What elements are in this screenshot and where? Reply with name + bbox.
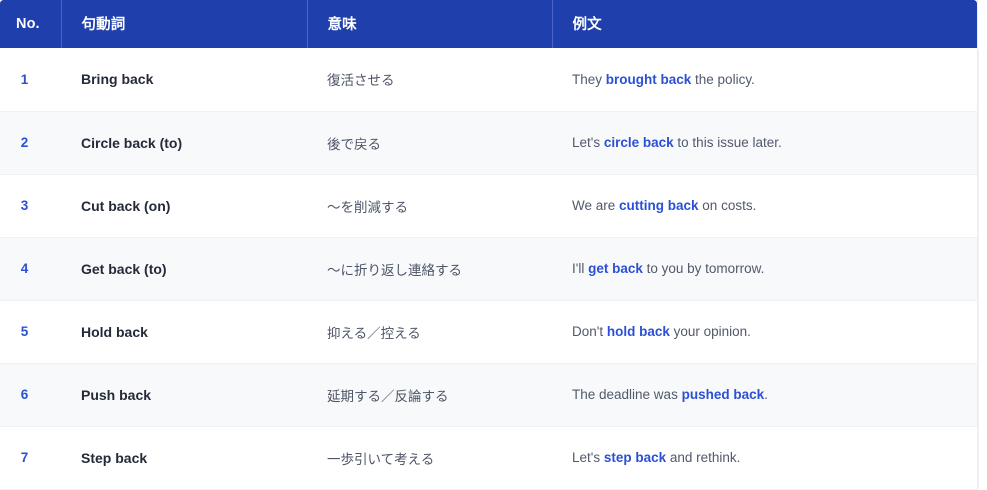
example-pre: Let's: [572, 450, 604, 465]
example-pre: Let's: [572, 135, 604, 150]
column-header-phrase[interactable]: 句動詞: [61, 0, 307, 48]
example-post: to this issue later.: [674, 135, 782, 150]
cell-example: Don't hold back your opinion.: [552, 300, 977, 363]
cell-no: 6: [0, 363, 61, 426]
cell-meaning: 一歩引いて考える: [307, 426, 552, 489]
table-row[interactable]: 2 Circle back (to) 後で戻る Let's circle bac…: [0, 111, 977, 174]
cell-phrase: Bring back: [61, 48, 307, 111]
cell-phrase: Get back (to): [61, 237, 307, 300]
table-row[interactable]: 3 Cut back (on) 〜を削減する We are cutting ba…: [0, 174, 977, 237]
example-highlight: pushed back: [682, 387, 765, 402]
cell-meaning: 〜に折り返し連絡する: [307, 237, 552, 300]
cell-example: The deadline was pushed back.: [552, 363, 977, 426]
phrasal-verb-table-container: No. 句動詞 意味 例文 1 Bring back 復活させる They br…: [0, 0, 987, 489]
cell-example: Let's step back and rethink.: [552, 426, 977, 489]
cell-meaning: 抑える／控える: [307, 300, 552, 363]
example-highlight: cutting back: [619, 198, 699, 213]
cell-no: 5: [0, 300, 61, 363]
table-row[interactable]: 7 Step back 一歩引いて考える Let's step back and…: [0, 426, 977, 489]
example-highlight: brought back: [606, 72, 692, 87]
example-pre: The deadline was: [572, 387, 682, 402]
cell-phrase: Hold back: [61, 300, 307, 363]
cell-no: 7: [0, 426, 61, 489]
cell-no: 2: [0, 111, 61, 174]
table-header: No. 句動詞 意味 例文: [0, 0, 977, 48]
cell-phrase: Push back: [61, 363, 307, 426]
cell-phrase: Cut back (on): [61, 174, 307, 237]
column-header-meaning[interactable]: 意味: [307, 0, 552, 48]
cell-meaning: 後で戻る: [307, 111, 552, 174]
table-header-row: No. 句動詞 意味 例文: [0, 0, 977, 48]
example-pre: Don't: [572, 324, 607, 339]
cell-no: 1: [0, 48, 61, 111]
cell-meaning: 〜を削減する: [307, 174, 552, 237]
table-row[interactable]: 1 Bring back 復活させる They brought back the…: [0, 48, 977, 111]
column-header-no[interactable]: No.: [0, 0, 61, 48]
example-highlight: hold back: [607, 324, 670, 339]
cell-example: Let's circle back to this issue later.: [552, 111, 977, 174]
cell-phrase: Step back: [61, 426, 307, 489]
table-right-edge-rule: [978, 50, 979, 489]
cell-example: We are cutting back on costs.: [552, 174, 977, 237]
table-row[interactable]: 5 Hold back 抑える／控える Don't hold back your…: [0, 300, 977, 363]
example-post: and rethink.: [666, 450, 740, 465]
cell-phrase: Circle back (to): [61, 111, 307, 174]
example-highlight: get back: [588, 261, 643, 276]
example-highlight: circle back: [604, 135, 674, 150]
example-pre: We are: [572, 198, 619, 213]
table-body: 1 Bring back 復活させる They brought back the…: [0, 48, 977, 489]
cell-meaning: 復活させる: [307, 48, 552, 111]
example-post: the policy.: [691, 72, 755, 87]
table-row[interactable]: 4 Get back (to) 〜に折り返し連絡する I'll get back…: [0, 237, 977, 300]
example-post: .: [764, 387, 768, 402]
example-post: on costs.: [699, 198, 757, 213]
example-pre: They: [572, 72, 606, 87]
table-row[interactable]: 6 Push back 延期する／反論する The deadline was p…: [0, 363, 977, 426]
cell-no: 3: [0, 174, 61, 237]
example-pre: I'll: [572, 261, 588, 276]
cell-example: I'll get back to you by tomorrow.: [552, 237, 977, 300]
cell-example: They brought back the policy.: [552, 48, 977, 111]
example-highlight: step back: [604, 450, 666, 465]
cell-no: 4: [0, 237, 61, 300]
cell-meaning: 延期する／反論する: [307, 363, 552, 426]
example-post: to you by tomorrow.: [643, 261, 765, 276]
column-header-example[interactable]: 例文: [552, 0, 977, 48]
phrasal-verb-table: No. 句動詞 意味 例文 1 Bring back 復活させる They br…: [0, 0, 978, 490]
example-post: your opinion.: [670, 324, 751, 339]
